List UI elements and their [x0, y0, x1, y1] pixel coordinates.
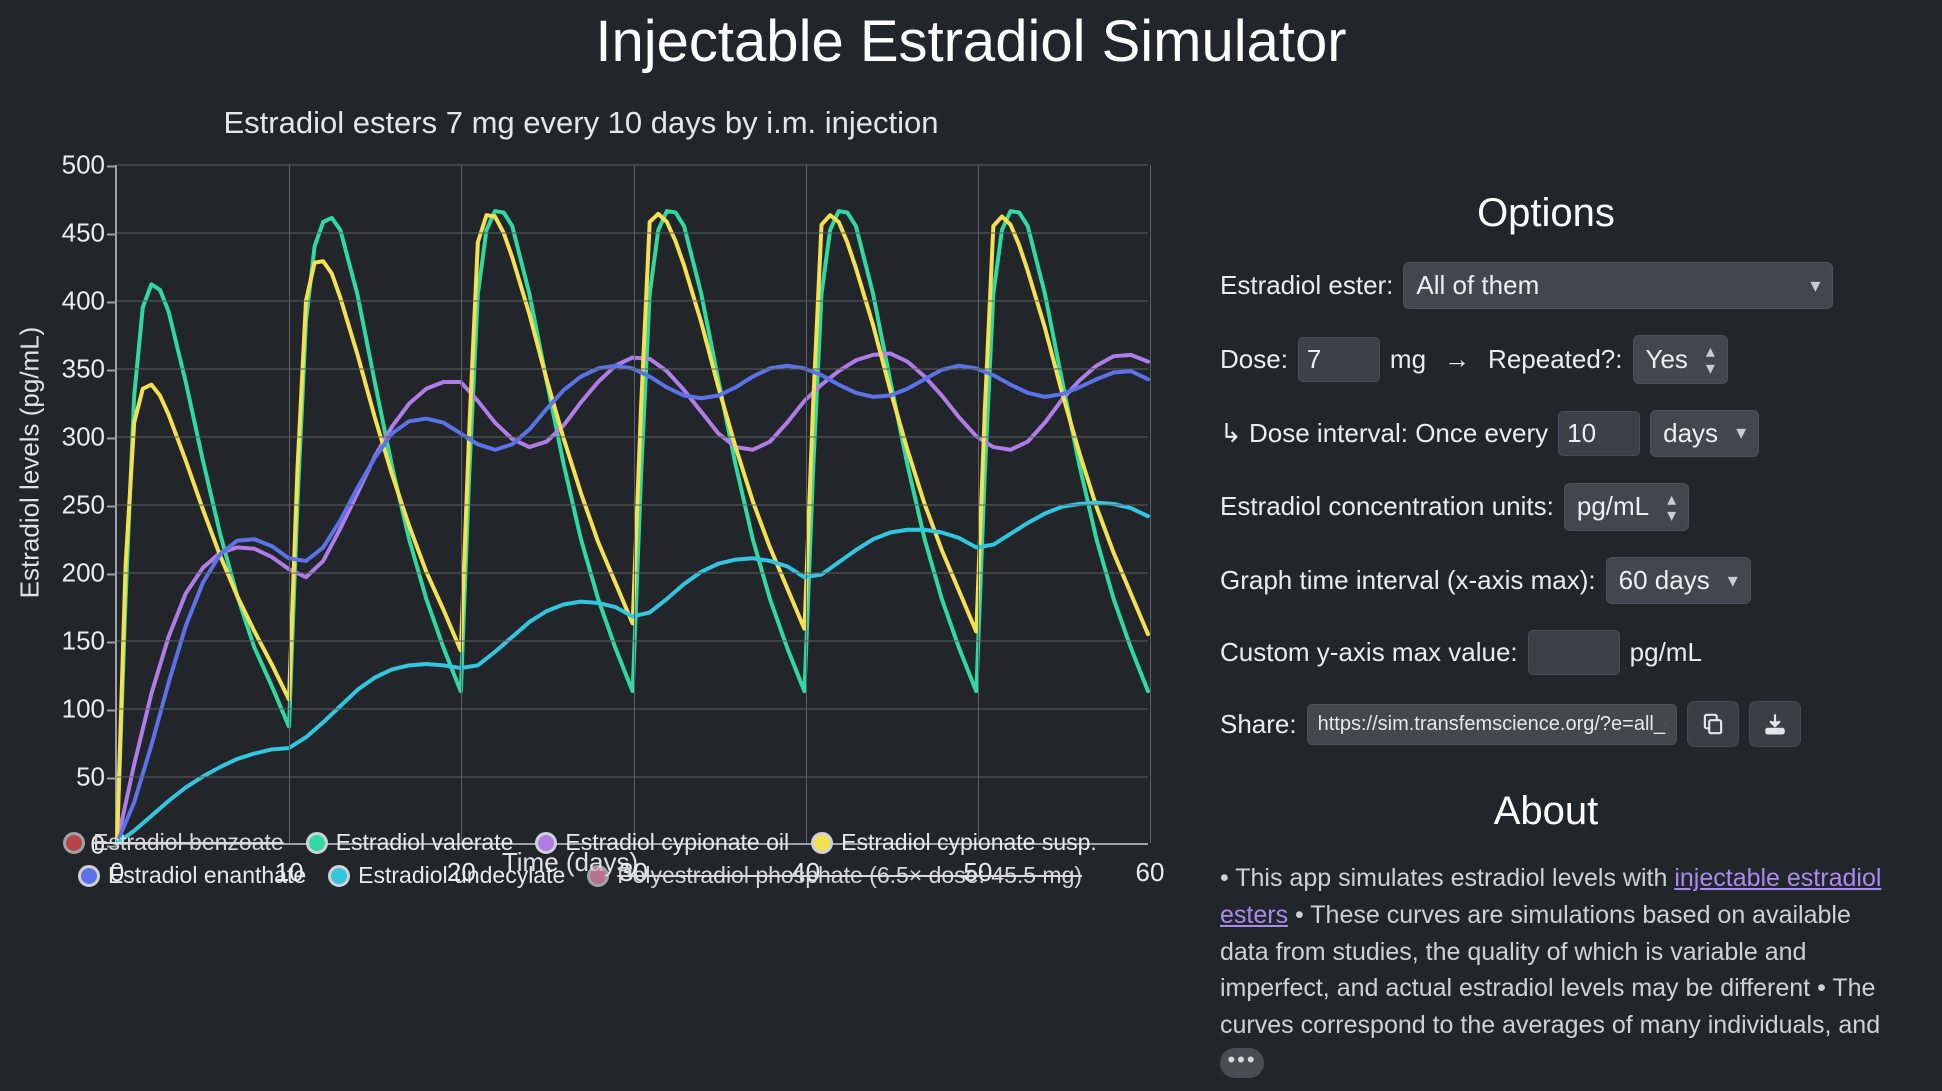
legend-item-label: Estradiol valerate	[336, 829, 514, 856]
time-interval-label: Graph time interval (x-axis max):	[1220, 565, 1596, 596]
legend-item-label: Estradiol cypionate susp.	[841, 829, 1097, 856]
legend-color-dot	[328, 865, 350, 887]
gridline-horizontal	[117, 165, 1148, 166]
legend-color-dot	[78, 865, 100, 887]
gridline-vertical	[1150, 165, 1151, 843]
download-button[interactable]	[1749, 701, 1801, 747]
options-panel: Options Estradiol ester: All of them ▾ D…	[1200, 79, 1942, 1079]
up-down-arrows-icon: ▴▾	[1667, 491, 1676, 523]
interval-unit-value: days	[1663, 418, 1718, 449]
time-interval-value: 60 days	[1619, 565, 1710, 596]
ymax-input[interactable]	[1528, 630, 1620, 675]
legend-row: Estradiol benzoateEstradiol valerateEstr…	[0, 829, 1160, 856]
gridline-horizontal	[117, 301, 1148, 302]
option-row-dose: Dose: mg → Repeated?: Yes ▴▾	[1220, 335, 1942, 383]
legend-color-dot	[811, 832, 833, 854]
option-row-ester: Estradiol ester: All of them ▾	[1220, 262, 1942, 309]
gridline-horizontal	[117, 369, 1148, 370]
legend-item-polyestradiol-phosphate-6-5-dose-45-5-mg[interactable]: Polyestradiol phosphate (6.5× dose: 45.5…	[587, 862, 1082, 889]
legend-color-dot	[535, 832, 557, 854]
units-label: Estradiol concentration units:	[1220, 491, 1554, 522]
about-text-part2: • These curves are simulations based on …	[1220, 901, 1880, 1039]
options-heading: Options	[1220, 191, 1942, 236]
plot-area[interactable]: 0501001502002503003504004505000102030405…	[115, 165, 1148, 845]
legend-item-estradiol-valerate[interactable]: Estradiol valerate	[306, 829, 514, 856]
legend-item-label: Estradiol enanthate	[108, 862, 306, 889]
chart-column: Estradiol esters 7 mg every 10 days by i…	[0, 79, 1200, 1079]
main-layout: Estradiol esters 7 mg every 10 days by i…	[0, 79, 1942, 1079]
units-select-value: pg/mL	[1577, 491, 1649, 522]
repeated-select-value: Yes	[1646, 344, 1688, 375]
gridline-vertical	[806, 165, 807, 843]
up-down-arrows-icon: ▴▾	[1706, 343, 1715, 375]
y-axis-tick: 300	[62, 422, 117, 453]
gridline-horizontal	[117, 709, 1148, 710]
y-axis-tick: 150	[62, 626, 117, 657]
dose-input[interactable]	[1298, 337, 1380, 382]
gridline-horizontal	[117, 573, 1148, 574]
chart-legend: Estradiol benzoateEstradiol valerateEstr…	[0, 829, 1160, 895]
ymax-label: Custom y-axis max value:	[1220, 637, 1518, 668]
interval-unit-select[interactable]: days ▾	[1650, 410, 1759, 457]
repeated-label: Repeated?:	[1488, 344, 1622, 375]
legend-item-label: Estradiol cypionate oil	[565, 829, 789, 856]
dose-unit: mg	[1390, 344, 1426, 375]
ester-label: Estradiol ester:	[1220, 270, 1393, 301]
repeated-select[interactable]: Yes ▴▾	[1633, 335, 1728, 383]
about-heading: About	[1220, 789, 1942, 834]
share-url-input[interactable]	[1307, 704, 1677, 745]
ymax-unit: pg/mL	[1630, 637, 1702, 668]
chevron-down-icon: ▾	[1728, 571, 1738, 591]
arrow-icon: →	[1436, 344, 1478, 375]
gridline-horizontal	[117, 777, 1148, 778]
legend-item-label: Estradiol benzoate	[93, 829, 284, 856]
copy-icon	[1700, 711, 1726, 737]
ester-select[interactable]: All of them ▾	[1403, 262, 1833, 309]
chevron-down-icon: ▾	[1736, 423, 1746, 443]
interval-input[interactable]	[1558, 411, 1640, 456]
option-row-interval: ↳ Dose interval: Once every days ▾	[1220, 410, 1942, 457]
legend-item-estradiol-cypionate-oil[interactable]: Estradiol cypionate oil	[535, 829, 789, 856]
gridline-horizontal	[117, 437, 1148, 438]
option-row-share: Share:	[1220, 701, 1942, 747]
about-text-part1: • This app simulates estradiol levels wi…	[1220, 864, 1674, 892]
gridline-horizontal	[117, 505, 1148, 506]
ester-select-value: All of them	[1416, 270, 1539, 301]
legend-color-dot	[306, 832, 328, 854]
option-row-units: Estradiol concentration units: pg/mL ▴▾	[1220, 483, 1942, 531]
legend-item-label: Estradiol undecylate	[358, 862, 565, 889]
gridline-horizontal	[117, 233, 1148, 234]
legend-item-estradiol-undecylate[interactable]: Estradiol undecylate	[328, 862, 565, 889]
gridline-vertical	[634, 165, 635, 843]
gridline-vertical	[289, 165, 290, 843]
share-label: Share:	[1220, 709, 1297, 740]
y-axis-tick: 450	[62, 218, 117, 249]
gridline-vertical	[461, 165, 462, 843]
option-row-time-interval: Graph time interval (x-axis max): 60 day…	[1220, 557, 1942, 604]
units-select[interactable]: pg/mL ▴▾	[1564, 483, 1689, 531]
y-axis-tick: 250	[62, 490, 117, 521]
page-title: Injectable Estradiol Simulator	[0, 4, 1942, 79]
legend-item-estradiol-enanthate[interactable]: Estradiol enanthate	[78, 862, 306, 889]
legend-item-estradiol-benzoate[interactable]: Estradiol benzoate	[63, 829, 284, 856]
legend-color-dot	[63, 832, 85, 854]
option-row-ymax: Custom y-axis max value: pg/mL	[1220, 630, 1942, 675]
gridline-horizontal	[117, 641, 1148, 642]
y-axis-tick: 500	[62, 150, 117, 181]
y-axis-tick: 200	[62, 558, 117, 589]
interval-label: ↳ Dose interval: Once every	[1220, 418, 1548, 449]
plot-wrapper: Estradiol levels (pg/mL) Time (days) 050…	[0, 147, 1200, 867]
dose-label: Dose:	[1220, 344, 1288, 375]
about-text: • This app simulates estradiol levels wi…	[1220, 860, 1942, 1081]
legend-item-estradiol-cypionate-susp[interactable]: Estradiol cypionate susp.	[811, 829, 1097, 856]
y-axis-tick: 400	[62, 286, 117, 317]
chevron-down-icon: ▾	[1810, 276, 1820, 296]
show-more-button[interactable]: •••	[1220, 1048, 1264, 1078]
copy-link-button[interactable]	[1687, 701, 1739, 747]
gridline-vertical	[978, 165, 979, 843]
y-axis-label: Estradiol levels (pg/mL)	[15, 253, 46, 673]
legend-item-label: Polyestradiol phosphate (6.5× dose: 45.5…	[617, 862, 1082, 889]
legend-color-dot	[587, 865, 609, 887]
download-icon	[1762, 711, 1788, 737]
y-axis-tick: 100	[62, 694, 117, 725]
time-interval-select[interactable]: 60 days ▾	[1606, 557, 1751, 604]
legend-row: Estradiol enanthateEstradiol undecylateP…	[0, 862, 1160, 889]
chart-title: Estradiol esters 7 mg every 10 days by i…	[0, 105, 1200, 141]
y-axis-tick: 50	[76, 762, 117, 793]
y-axis-tick: 350	[62, 354, 117, 385]
